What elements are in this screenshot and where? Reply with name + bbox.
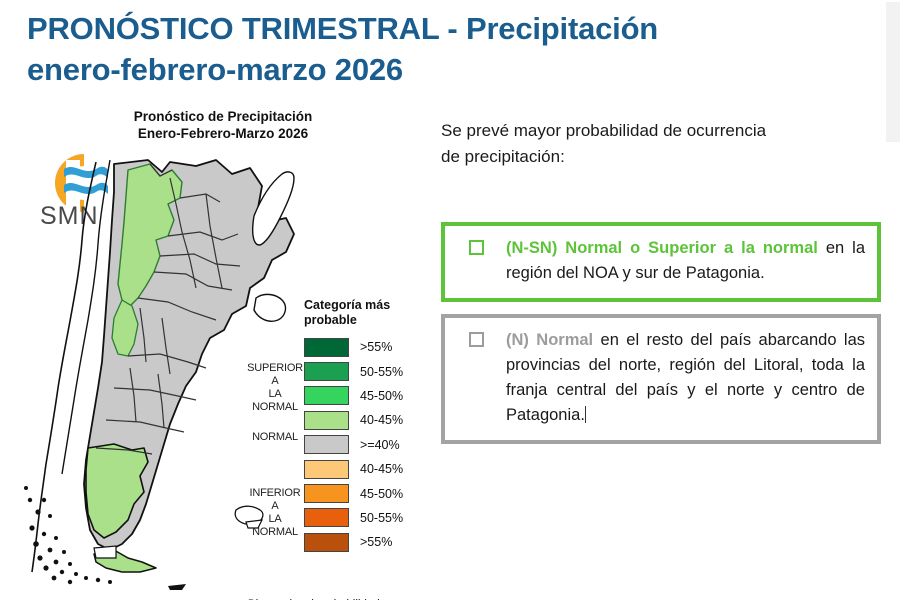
legend-group-normal-l1: NORMAL xyxy=(246,431,304,444)
legend-item-label: 50-55% xyxy=(360,365,403,379)
legend-swatch xyxy=(304,533,349,552)
page-title-line2: enero-febrero-marzo 2026 xyxy=(27,49,857,90)
legend-title-line2: probable xyxy=(304,313,424,328)
checkbox-icon[interactable] xyxy=(469,240,484,255)
intro-line1: Se prevé mayor probabilidad de ocurrenci… xyxy=(441,118,861,144)
legend-swatch xyxy=(304,508,349,527)
intro-line2: de precipitación: xyxy=(441,144,861,170)
forecast-summary-panel: Se prevé mayor probabilidad de ocurrenci… xyxy=(441,118,886,170)
legend-rows: SUPERIOR A LA NORMAL NORMAL INFERIOR A L… xyxy=(246,335,436,555)
page-title-line1: PRONÓSTICO TRIMESTRAL - Precipitación xyxy=(27,8,857,49)
bullet-text-above-normal: (N-SN) Normal o Superior a la normal en … xyxy=(506,236,865,286)
page-title: PRONÓSTICO TRIMESTRAL - Precipitación en… xyxy=(27,8,857,90)
bullet-text-normal: (N) Normal en el resto del país abarcand… xyxy=(506,328,865,428)
legend-item: >55% xyxy=(246,335,436,359)
map-legend: Categoría más probable SUPERIOR A LA NOR… xyxy=(246,298,436,555)
map-heading-line2: Enero-Febrero-Marzo 2026 xyxy=(108,125,338,142)
slide-canvas: PRONÓSTICO TRIMESTRAL - Precipitación en… xyxy=(0,0,900,600)
legend-item-label: 45-50% xyxy=(360,389,403,403)
legend-group-above-l1: SUPERIOR A xyxy=(246,362,304,388)
legend-group-above-l2: LA NORMAL xyxy=(246,388,304,414)
legend-swatch xyxy=(304,460,349,479)
map-heading: Pronóstico de Precipitación Enero-Febrer… xyxy=(108,108,338,142)
legend-group-below-l2: LA NORMAL xyxy=(246,513,304,539)
legend-group-below: INFERIOR A LA NORMAL xyxy=(246,487,304,539)
legend-group-normal: NORMAL xyxy=(246,431,304,444)
legend-swatch xyxy=(304,362,349,381)
legend-item-label: 40-45% xyxy=(360,413,403,427)
checkbox-icon[interactable] xyxy=(469,332,484,347)
bullet-box-above-normal[interactable]: (N-SN) Normal o Superior a la normal en … xyxy=(441,222,881,302)
legend-title-line1: Categoría más xyxy=(304,298,424,313)
legend-item-label: 40-45% xyxy=(360,462,403,476)
legend-group-above: SUPERIOR A LA NORMAL xyxy=(246,362,304,414)
legend-item-label: >55% xyxy=(360,340,392,354)
slide-right-edge xyxy=(886,2,900,142)
bullet-box-normal[interactable]: (N) Normal en el resto del país abarcand… xyxy=(441,314,881,444)
bullet-highlight: (N-SN) Normal o Superior a la normal xyxy=(506,239,818,257)
legend-item: 40-45% xyxy=(246,457,436,481)
legend-item-label: >=40% xyxy=(360,438,400,452)
legend-swatch xyxy=(304,484,349,503)
legend-swatch xyxy=(304,338,349,357)
legend-group-below-l1: INFERIOR A xyxy=(246,487,304,513)
legend-swatch xyxy=(304,435,349,454)
legend-swatch xyxy=(304,411,349,430)
legend-item-label: >55% xyxy=(360,535,392,549)
intro-text: Se prevé mayor probabilidad de ocurrenci… xyxy=(441,118,861,170)
bullet-highlight: (N) Normal xyxy=(506,331,593,349)
map-figure: Pronóstico de Precipitación Enero-Febrer… xyxy=(0,100,440,600)
legend-item-label: 45-50% xyxy=(360,487,403,501)
legend-item-label: 50-55% xyxy=(360,511,403,525)
legend-swatch xyxy=(304,386,349,405)
text-caret xyxy=(585,406,586,423)
legend-title: Categoría más probable xyxy=(304,298,424,328)
map-heading-line1: Pronóstico de Precipitación xyxy=(108,108,338,125)
